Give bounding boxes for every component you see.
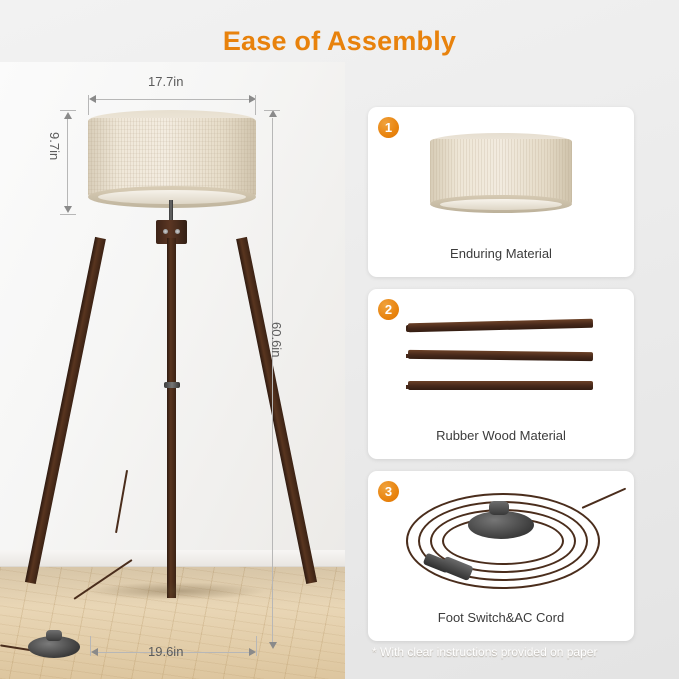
dim-label-shade-width: 17.7in	[148, 74, 183, 89]
dim-arrow-total-height-bottom	[269, 642, 277, 649]
dim-arrow-shade-width-left	[89, 95, 96, 103]
dim-arrow-shade-height-top	[64, 112, 72, 119]
infographic-stage: Ease of Assembly 17.7in	[0, 0, 679, 679]
wood-leg-1	[408, 319, 593, 333]
wood-leg-3	[408, 381, 593, 390]
lampshade-icon	[368, 121, 634, 233]
dim-tick-base-right	[256, 636, 257, 656]
leg-brace	[164, 382, 180, 388]
dim-label-base-width: 19.6in	[148, 644, 183, 659]
dim-tick-total-top	[264, 110, 280, 111]
dim-tick-shade-top	[60, 110, 76, 111]
dim-arrow-shade-height-bottom	[64, 206, 72, 213]
foot-switch-knob	[489, 501, 509, 515]
dim-line-total-height	[272, 118, 273, 646]
card-label-1: Enduring Material	[368, 246, 634, 261]
cord-switch-icon	[368, 485, 634, 597]
shade-inner-ellipse	[440, 199, 562, 210]
tripod-leg-center	[167, 238, 176, 598]
bracket-screw-right	[175, 229, 180, 234]
dim-arrow-base-width-right	[249, 648, 256, 656]
wood-legs-icon	[368, 303, 634, 415]
dim-tick-base-left	[90, 636, 91, 656]
card-label-3: Foot Switch&AC Cord	[368, 610, 634, 625]
cord-tail	[582, 488, 627, 509]
dim-tick-shade-bottom	[60, 214, 76, 215]
footnote-text: * With clear instructions provided on pa…	[372, 645, 597, 659]
dim-line-shade-width	[95, 99, 255, 100]
dim-tick-shade-left	[88, 95, 89, 115]
foot-switch	[28, 636, 80, 658]
lamp-shade	[88, 110, 256, 206]
bracket-screw-left	[163, 229, 168, 234]
foot-switch-body	[468, 511, 534, 539]
wood-leg-2	[408, 350, 593, 361]
foot-switch-knob	[46, 630, 62, 641]
dim-arrow-total-height-top	[269, 110, 277, 117]
feature-card-enduring-material[interactable]: 1 Enduring Material	[368, 107, 634, 277]
card-label-2: Rubber Wood Material	[368, 428, 634, 443]
dim-arrow-base-width-left	[91, 648, 98, 656]
feature-card-rubber-wood-material[interactable]: 2 Rubber Wood Material	[368, 289, 634, 459]
page-title: Ease of Assembly	[0, 26, 679, 57]
lamp-base-shadow	[86, 582, 266, 600]
dim-label-total-height: 60.6in	[269, 322, 284, 357]
dim-label-shade-height: 9.7in	[47, 132, 62, 160]
dim-tick-shade-right	[255, 95, 256, 115]
feature-card-foot-switch-ac-cord[interactable]: 3 Foot Switch&AC Cord	[368, 471, 634, 641]
dim-line-shade-height	[67, 118, 68, 208]
